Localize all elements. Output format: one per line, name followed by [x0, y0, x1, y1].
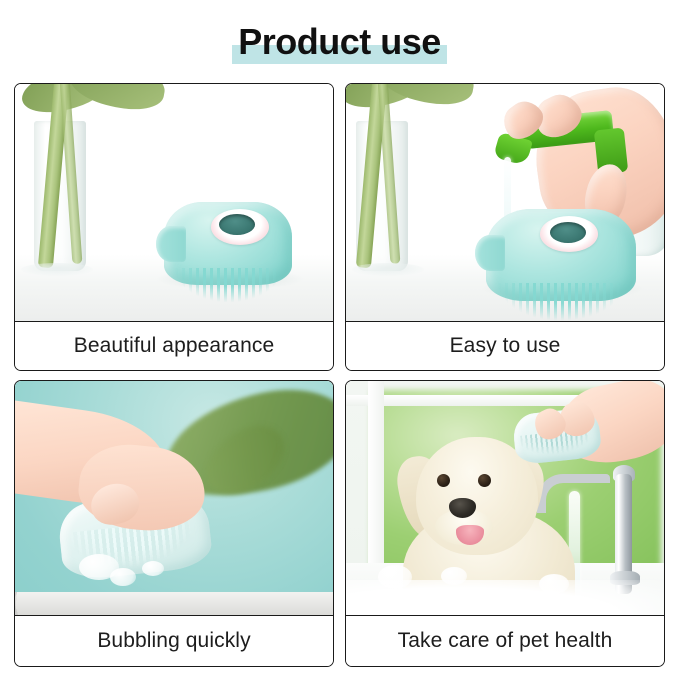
- brush-dispenser-cap: [219, 214, 255, 235]
- caption-text: Take care of pet health: [398, 629, 613, 653]
- photo-pet-health: [346, 381, 664, 616]
- caption-text: Beautiful appearance: [74, 334, 275, 358]
- foam-bubble: [539, 574, 569, 594]
- vase-base: [352, 263, 424, 276]
- page-title: Product use: [232, 24, 447, 60]
- caption-pet-health: Take care of pet health: [346, 615, 664, 666]
- infographic-page: Product use: [0, 0, 679, 679]
- photo-beautiful-appearance: [15, 84, 333, 321]
- brush-side-tab: [156, 226, 186, 262]
- panel-bubbling-quickly: Bubbling quickly: [14, 380, 334, 668]
- puppy-eye: [437, 474, 450, 487]
- caption-bubbling-quickly: Bubbling quickly: [15, 615, 333, 666]
- panel-pet-health: Take care of pet health: [345, 380, 665, 668]
- photo-easy-to-use: [346, 84, 664, 321]
- caption-easy-to-use: Easy to use: [346, 321, 664, 370]
- silicone-brush: [486, 209, 636, 320]
- caption-text: Easy to use: [450, 334, 561, 358]
- vase-base: [21, 263, 93, 276]
- brush-bristles: [498, 283, 624, 321]
- caption-text: Bubbling quickly: [97, 629, 250, 653]
- silicone-brush: [164, 202, 292, 308]
- page-title-container: Product use: [0, 16, 679, 68]
- brush-side-tab: [475, 235, 505, 271]
- brush-bristles: [175, 268, 283, 308]
- panel-easy-to-use: Easy to use: [345, 83, 665, 371]
- caption-beautiful-appearance: Beautiful appearance: [15, 321, 333, 370]
- foam-bubble: [378, 565, 412, 589]
- page-title-text: Product use: [238, 21, 441, 62]
- panel-beautiful-appearance: Beautiful appearance: [14, 83, 334, 371]
- product-use-grid: Beautiful appearance: [14, 83, 665, 667]
- marble-counter: [15, 592, 333, 615]
- foam-bubble: [441, 567, 467, 585]
- photo-bubbling-quickly: [15, 381, 333, 616]
- brush-dispenser-cap: [550, 222, 586, 243]
